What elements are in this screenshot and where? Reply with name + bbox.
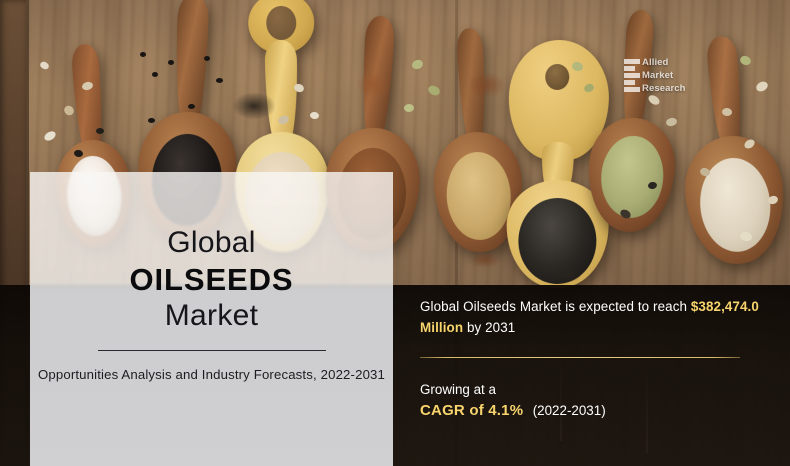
cagr-statement: CAGR of 4.1% (2022-2031)	[420, 402, 770, 420]
panel-suffix: Market	[165, 300, 259, 332]
cagr-period: (2022-2031)	[533, 403, 606, 418]
scattered-seeds	[356, 72, 390, 98]
page-title: OILSEEDS	[130, 262, 294, 299]
growth-label: Growing at a	[420, 380, 770, 400]
scattered-seeds	[152, 72, 158, 77]
scattered-seeds	[468, 72, 506, 98]
scattered-seeds	[140, 52, 146, 57]
logo-mark-icon	[624, 59, 641, 97]
forecast-prefix: Global Oilseeds Market is expected to re…	[420, 299, 687, 314]
logo-line-2: Market	[642, 70, 673, 81]
cagr-value: CAGR of 4.1%	[420, 402, 523, 419]
scattered-seeds	[556, 268, 582, 282]
scattered-seeds	[232, 92, 276, 120]
scattered-seeds	[204, 56, 210, 61]
forecast-statement: Global Oilseeds Market is expected to re…	[420, 296, 770, 338]
scattered-seeds	[168, 60, 174, 65]
panel-subtitle: Opportunities Analysis and Industry Fore…	[37, 365, 387, 385]
logo-line-1: Allied	[642, 57, 668, 68]
scattered-seeds	[148, 118, 155, 123]
panel-divider	[98, 350, 326, 351]
scattered-seeds	[216, 78, 223, 83]
highlights-divider	[420, 357, 740, 358]
scattered-seeds	[188, 104, 195, 109]
allied-market-research-logo: Allied Market Research	[624, 56, 696, 100]
forecast-suffix: by 2031	[467, 320, 515, 335]
scattered-seeds	[470, 252, 500, 268]
logo-line-3: Research	[642, 83, 686, 94]
scattered-seeds	[96, 128, 104, 134]
report-cover-banner: Allied Market Research Global OILSEEDS M…	[0, 0, 790, 466]
panel-eyebrow: Global	[167, 228, 256, 259]
title-panel: Global OILSEEDS Market Opportunities Ana…	[30, 172, 393, 466]
highlights-block: Global Oilseeds Market is expected to re…	[420, 296, 770, 420]
